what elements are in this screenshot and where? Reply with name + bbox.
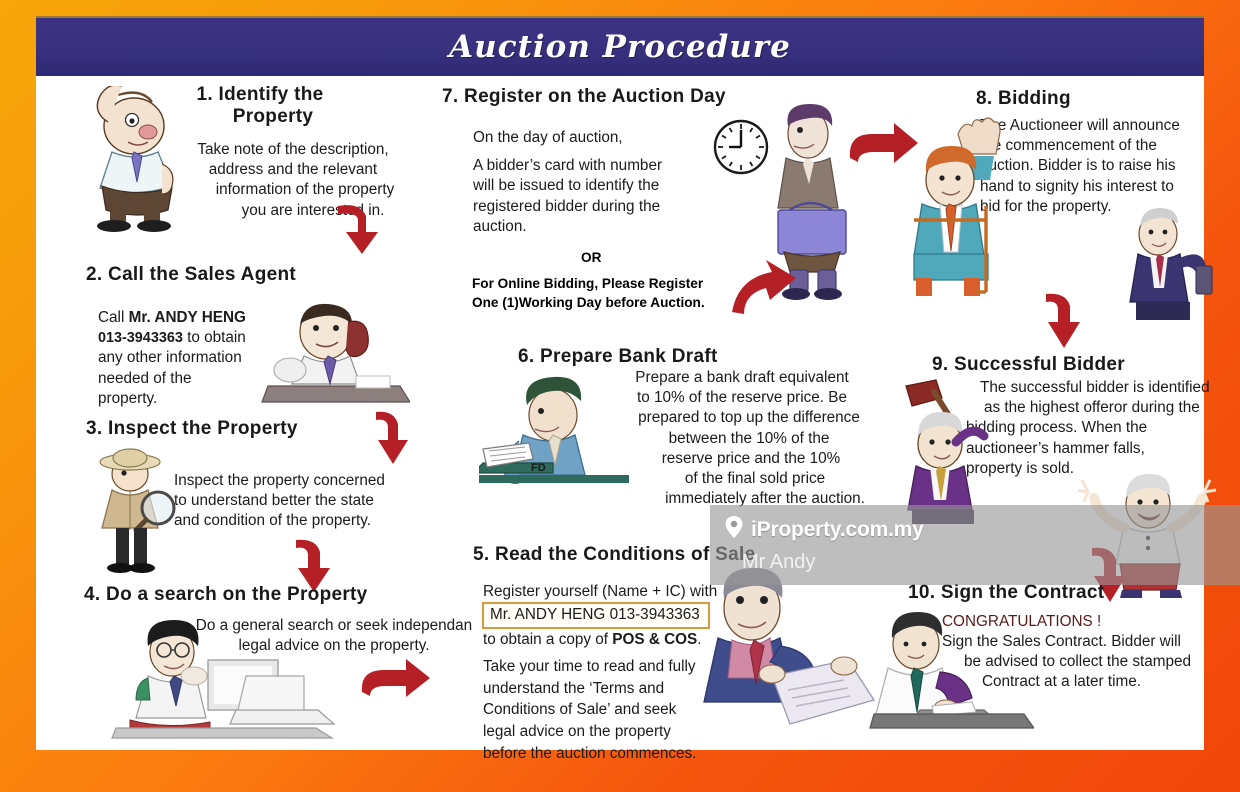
watermark-overlay: iProperty.com.my Mr Andy [710,505,1240,585]
illustration-auctioneer-gavel [894,376,1014,526]
step-8-title: Bidding [998,88,1071,109]
step-9-heading: 9. Successful Bidder [932,354,1212,376]
step-7-online-line-2: One (1)Working Day before Auction. [472,294,742,313]
step-7-body-line-1: On the day of auction, [473,128,713,148]
bank-draft-label: FD [531,462,546,474]
step-6-heading: 6. Prepare Bank Draft [518,346,858,368]
step-7-or-label: OR [581,250,601,265]
illustration-second-bidder [1110,206,1216,324]
step-6-number: 6. [518,346,534,367]
arrow-step4-to-step5 [356,656,436,712]
step-1-number: 1. [197,84,213,105]
step-2-heading: 2. Call the Sales Agent [86,264,426,286]
step-4-number: 4. [84,584,100,605]
agent-name: Mr. ANDY HENG [129,309,246,326]
illustration-woman-at-laptop [96,616,336,746]
illustration-signing-contract [854,610,1034,740]
step-3-heading: 3. Inspect the Property [86,418,416,440]
step-8-heading: 8. Bidding [976,88,1196,110]
watermark-brand-text: iProperty.com.my [751,518,924,542]
step-5-after-pre: to obtain a copy of [483,631,612,648]
step-3-body-line-2: to understand better the state [174,491,404,511]
step-1-body-line-2: address and the relevant [158,160,428,180]
step-1-title-line1: Identify the [219,84,324,105]
arrow-step3-down [368,406,422,470]
step-7-body: On the day of auction, A bidder’s card w… [473,128,713,237]
step-5-number: 5. [473,544,489,565]
illustration-agent-on-phone [260,298,410,408]
step-2-title: Call the Sales Agent [108,264,296,285]
step-7-title: Register on the Auction Day [464,86,726,107]
step-6-title: Prepare Bank Draft [540,346,718,367]
step-4-heading: 4. Do a search on the Property [84,584,504,606]
step-3-title: Inspect the Property [108,418,298,439]
step-10-title: Sign the Contract [941,582,1104,603]
step-3-body-line-1: Inspect the property concerned [174,471,404,491]
step-7-online-note: For Online Bidding, Please Register One … [472,275,742,313]
step-3-number: 3. [86,418,102,439]
step-7-online-line-1: For Online Bidding, Please Register [472,275,742,294]
step-3-body-line-3: and condition of the property. [174,511,404,531]
step-2-body-line-1: to obtain [187,329,246,346]
location-pin-icon [724,515,744,544]
step-2-number: 2. [86,264,102,285]
step-7-body-line-4: registered bidder during the [473,197,713,217]
agent-phone: 013-3943363 [98,330,183,346]
poster-panel: Auction Procedure 1. Identify the Proper… [36,16,1204,750]
watermark-agent-text: Mr Andy [742,551,815,574]
step-2-call-label: Call [98,309,129,326]
poster-frame: Auction Procedure 1. Identify the Proper… [0,0,1240,792]
step-9-title: Successful Bidder [954,354,1125,375]
step-3-body: Inspect the property concerned to unders… [174,471,404,532]
step-4-title: Do a search on the Property [106,584,368,605]
step-8-number: 8. [976,88,992,109]
illustration-man-with-bank-draft: FD [479,371,649,499]
step-10-number: 10. [908,582,935,603]
step-7-body-line-2: A bidder’s card with number [473,156,713,176]
illustration-bidder-raising-hand [902,110,1032,300]
step-1-body-line-1: Take note of the description, [158,140,428,160]
step-9-number: 9. [932,354,948,375]
arrow-step7-to-bidder [726,256,810,318]
step-10-heading: 10. Sign the Contract [908,582,1208,604]
title-banner: Auction Procedure [36,16,1204,76]
arrow-step8-to-step9 [1036,290,1092,352]
step-7-body-line-5: auction. [473,217,713,237]
page-title: Auction Procedure [449,29,791,65]
step-7-body-line-3: will be issued to identify the [473,176,713,196]
step-7-number: 7. [442,86,458,107]
arrow-step1-to-step2 [332,194,398,256]
watermark-brand-row: iProperty.com.my [724,515,924,544]
illustration-confused-man [62,86,192,236]
